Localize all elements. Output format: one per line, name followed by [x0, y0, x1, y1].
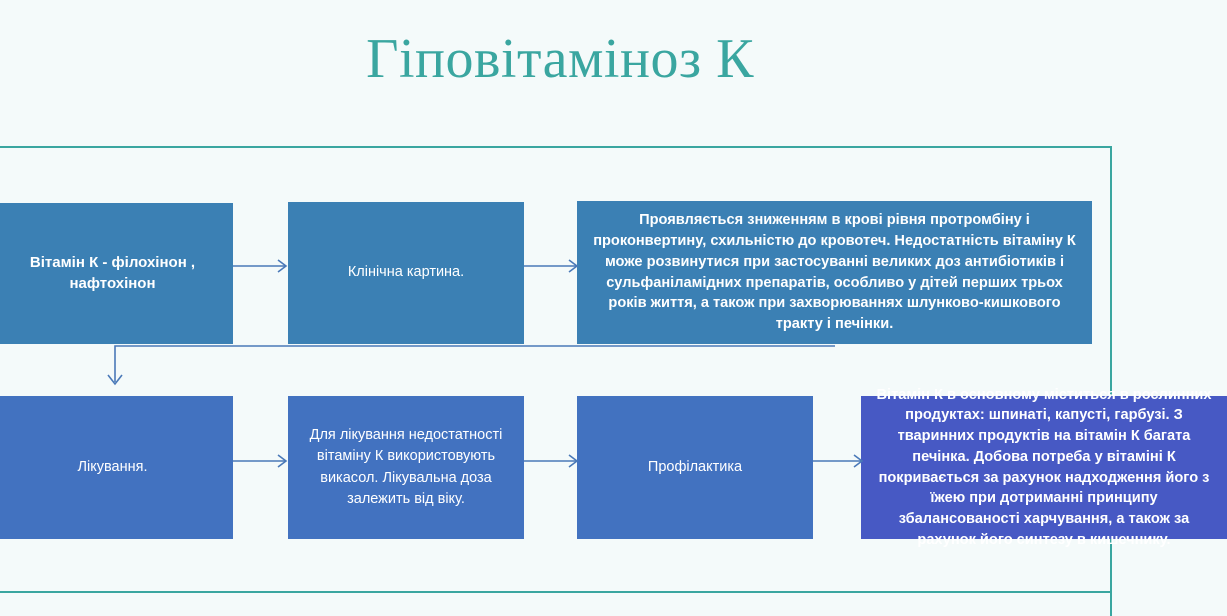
- arrow-right-icon: [813, 453, 865, 469]
- flow-node-prophylaxis: Профілактика: [577, 396, 813, 539]
- flow-node-clinical-picture-label: Клінічна картина.: [298, 263, 514, 283]
- frame-top-rule: [0, 146, 1112, 148]
- flow-node-prophylaxis-description-label: Вітамін К в основному міститься в рослин…: [873, 385, 1215, 551]
- flow-node-clinical-description: Проявляється зниженням в крові рівня про…: [577, 201, 1092, 344]
- flow-node-treatment-label: Лікування.: [2, 458, 223, 478]
- elbow-arrow-down-icon: [110, 344, 850, 396]
- arrow-right-icon: [233, 258, 289, 274]
- flow-node-clinical-description-label: Проявляється зниженням в крові рівня про…: [591, 210, 1078, 334]
- flow-node-prophylaxis-description: Вітамін К в основному міститься в рослин…: [861, 396, 1227, 539]
- flow-node-prophylaxis-label: Профілактика: [587, 458, 803, 478]
- arrow-right-icon: [524, 453, 580, 469]
- arrow-right-icon: [524, 258, 580, 274]
- flow-node-treatment: Лікування.: [0, 396, 233, 539]
- flow-node-clinical-picture: Клінічна картина.: [288, 202, 524, 344]
- flow-node-treatment-description-label: Для лікування недостатності вітаміну К в…: [300, 425, 512, 509]
- arrow-right-icon: [233, 453, 289, 469]
- flow-node-treatment-description: Для лікування недостатності вітаміну К в…: [288, 396, 524, 539]
- flow-node-vitamin-k-label: Вітамін К - філохінон , нафтохінон: [2, 253, 223, 294]
- page-title: Гіповітаміноз К: [0, 26, 1120, 93]
- frame-bottom-rule: [0, 591, 1112, 593]
- slide-canvas: Гіповітаміноз К Вітамін К - філохінон , …: [0, 0, 1227, 616]
- flow-node-vitamin-k: Вітамін К - філохінон , нафтохінон: [0, 203, 233, 344]
